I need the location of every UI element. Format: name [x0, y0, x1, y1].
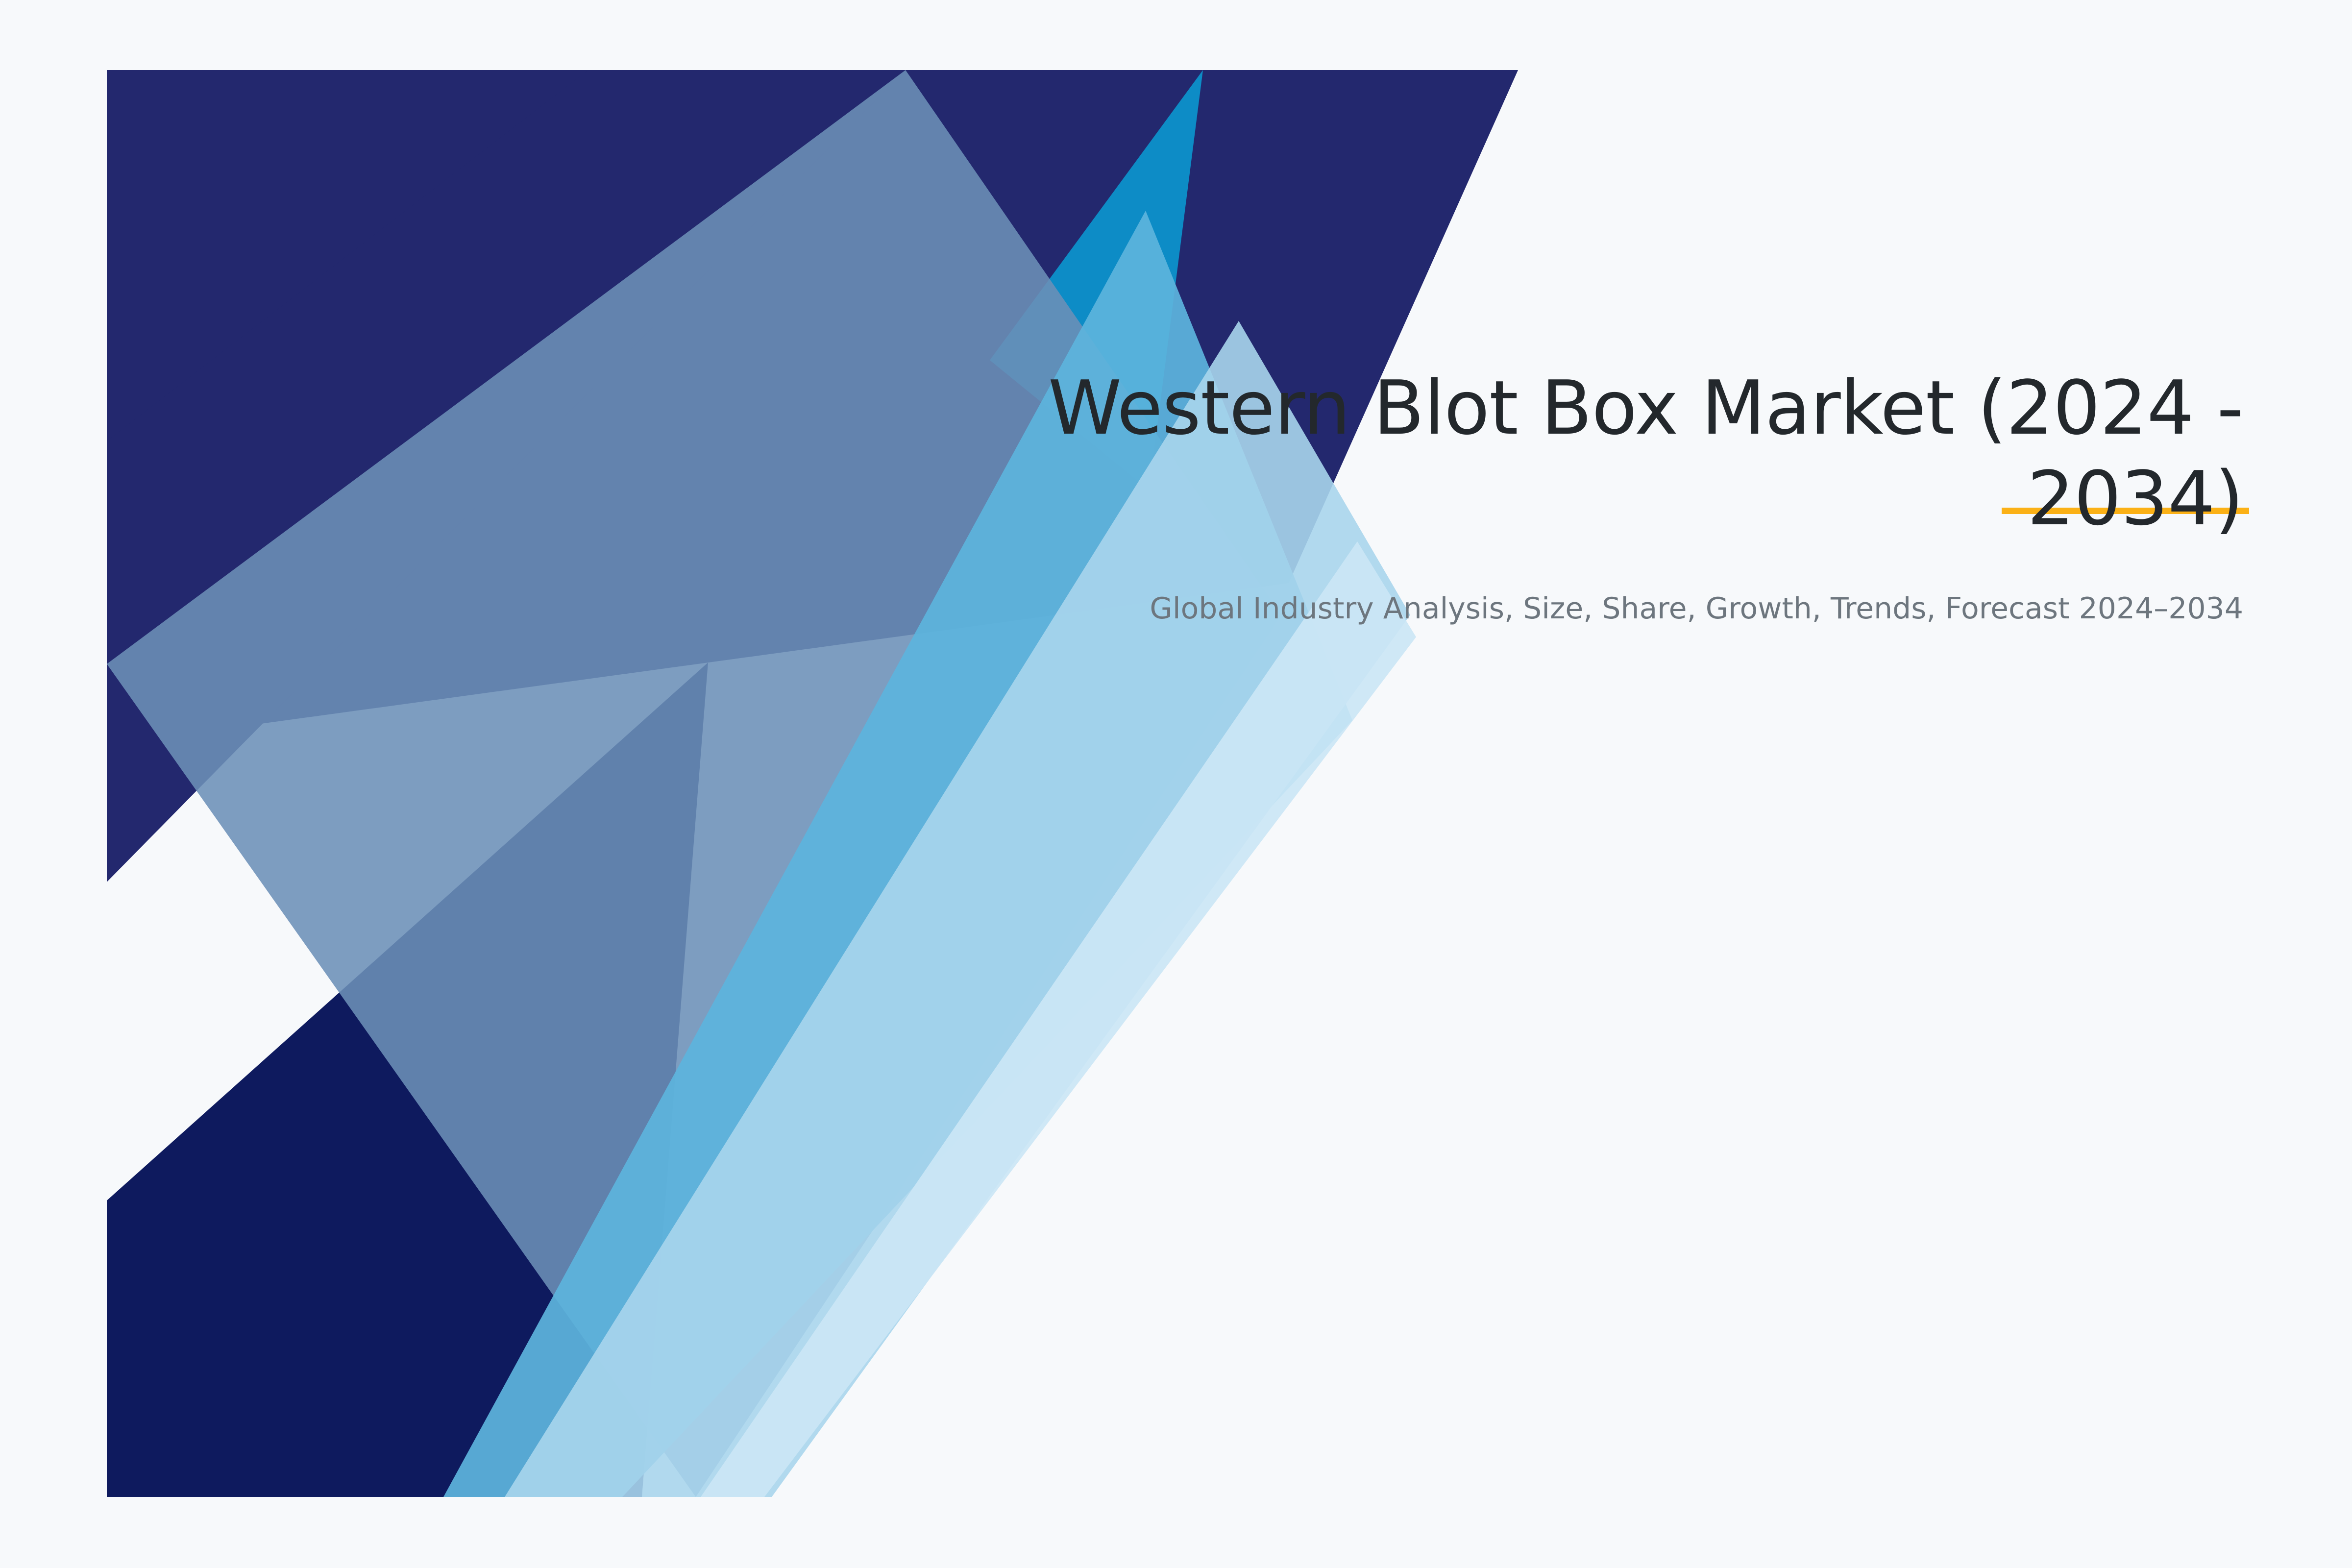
- page-subtitle: Global Industry Analysis, Size, Share, G…: [989, 544, 2243, 628]
- abstract-geometric-artwork: [0, 0, 2352, 1568]
- title-wrapper: Western Blot Box Market (2024 - 2034): [989, 363, 2243, 544]
- title-block: Western Blot Box Market (2024 - 2034) Gl…: [989, 363, 2243, 628]
- page-title: Western Blot Box Market (2024 - 2034): [989, 363, 2243, 544]
- slide-canvas: Western Blot Box Market (2024 - 2034) Gl…: [0, 0, 2352, 1568]
